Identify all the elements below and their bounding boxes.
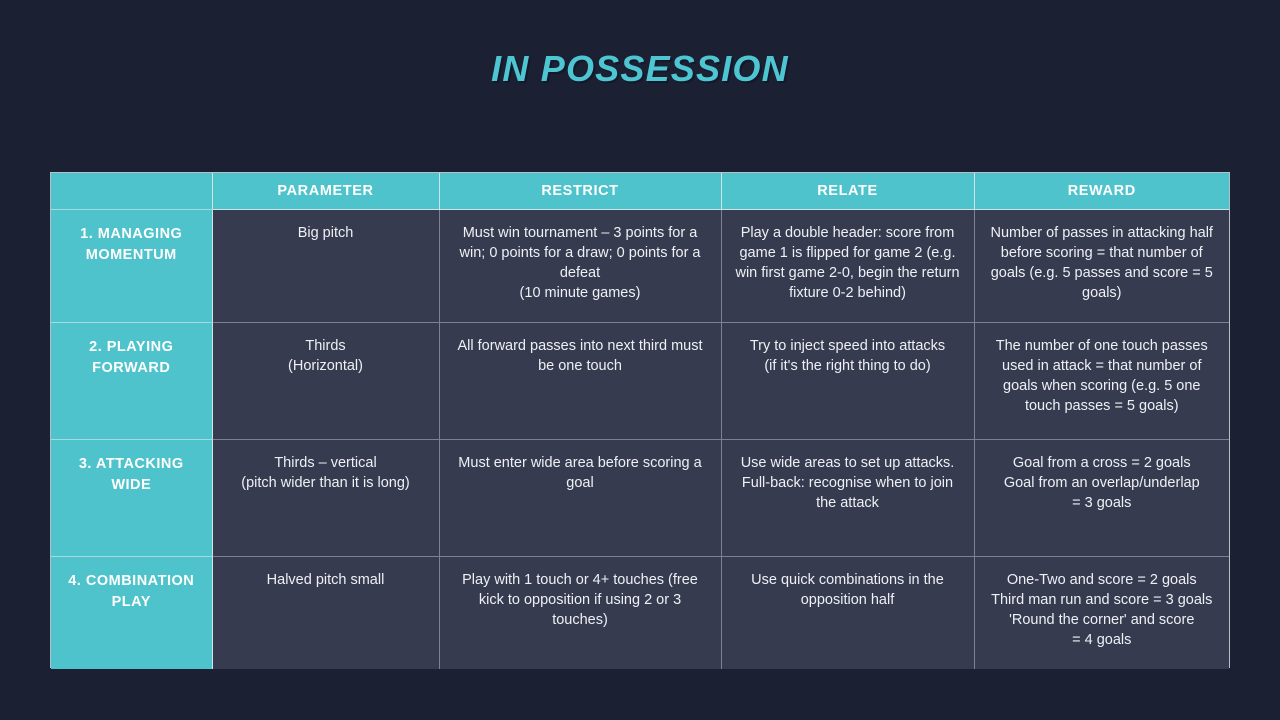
cell-restrict-3: Must enter wide area before scoring a go… [439,439,721,556]
cell-parameter-4: Halved pitch small [212,556,439,669]
possession-matrix-table: PARAMETER RESTRICT RELATE REWARD 1. MANA… [50,172,1230,668]
cell-relate-3: Use wide areas to set up attacks. Full-b… [721,439,974,556]
cell-reward-1: Number of passes in attacking half befor… [974,209,1229,322]
table-header-row: PARAMETER RESTRICT RELATE REWARD [51,173,1229,209]
row-label-managing-momentum: 1. MANAGING MOMENTUM [51,209,212,322]
cell-restrict-1: Must win tournament – 3 points for a win… [439,209,721,322]
cell-relate-2: Try to inject speed into attacks (if it'… [721,322,974,439]
cell-restrict-2: All forward passes into next third must … [439,322,721,439]
cell-relate-1: Play a double header: score from game 1 … [721,209,974,322]
cell-reward-2: The number of one touch passes used in a… [974,322,1229,439]
cell-parameter-3: Thirds – vertical (pitch wider than it i… [212,439,439,556]
cell-restrict-4: Play with 1 touch or 4+ touches (free ki… [439,556,721,669]
row-label-combination-play: 4. COMBINATION PLAY [51,556,212,669]
row-label-playing-forward: 2. PLAYING FORWARD [51,322,212,439]
row-label-attacking-wide: 3. ATTACKING WIDE [51,439,212,556]
column-header-blank [51,173,212,209]
table-row: 3. ATTACKING WIDE Thirds – vertical (pit… [51,439,1229,556]
column-header-reward: REWARD [974,173,1229,209]
cell-parameter-1: Big pitch [212,209,439,322]
page-title: IN POSSESSION [0,48,1280,90]
column-header-parameter: PARAMETER [212,173,439,209]
cell-reward-3: Goal from a cross = 2 goals Goal from an… [974,439,1229,556]
table-row: 1. MANAGING MOMENTUM Big pitch Must win … [51,209,1229,322]
cell-reward-4: One-Two and score = 2 goals Third man ru… [974,556,1229,669]
slide: IN POSSESSION PARAMETER RESTRICT RELATE … [0,0,1280,720]
table-row: 2. PLAYING FORWARD Thirds (Horizontal) A… [51,322,1229,439]
column-header-restrict: RESTRICT [439,173,721,209]
cell-parameter-2: Thirds (Horizontal) [212,322,439,439]
table-row: 4. COMBINATION PLAY Halved pitch small P… [51,556,1229,669]
cell-relate-4: Use quick combinations in the opposition… [721,556,974,669]
column-header-relate: RELATE [721,173,974,209]
